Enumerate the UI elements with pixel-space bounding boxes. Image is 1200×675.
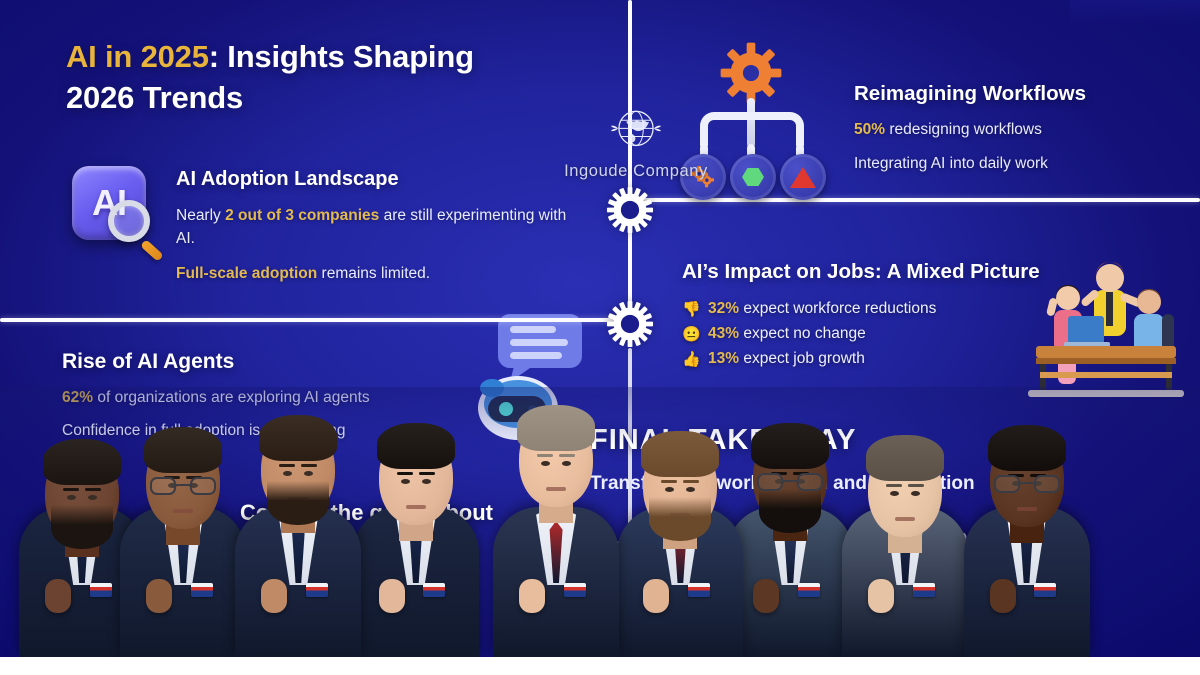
person-beard (51, 505, 113, 549)
person-hair (988, 425, 1066, 471)
person-eyebrow (419, 472, 435, 475)
person-flag-pin (798, 583, 820, 597)
person-eye (88, 495, 97, 500)
jobs-stat-value: 13% (708, 350, 739, 367)
person-portrait (478, 405, 634, 657)
brand-logo: Ingoude Company (548, 104, 724, 181)
person-eyebrow (63, 488, 79, 491)
workflow-node-pyramid (780, 154, 826, 200)
person-hair (43, 439, 121, 485)
person-flag-pin (423, 583, 445, 597)
section-ai-adoption: AI Adoption Landscape Nearly 2 out of 3 … (66, 162, 586, 296)
title-rest: : Insights Shaping (209, 39, 474, 74)
person-eye (67, 495, 76, 500)
adoption-line1-highlight: 2 out of 3 companies (225, 207, 379, 224)
person-hair (144, 427, 222, 473)
adoption-line2-suffix: remains limited. (317, 265, 430, 282)
divider-horizontal-right (632, 198, 1200, 202)
divider-horizontal-left (0, 318, 630, 322)
workflows-stat-value: 50% (854, 121, 885, 138)
person-eyebrow (85, 488, 101, 491)
adoption-line1-prefix: Nearly (176, 207, 225, 224)
person-hand (643, 579, 669, 613)
glasses-icon (994, 475, 1060, 493)
person-hand (868, 579, 894, 613)
person-eye (304, 471, 313, 476)
person-eyebrow (908, 484, 924, 487)
jobs-stat-row: 👍 13% expect job growth (682, 350, 1082, 368)
glasses-icon (757, 473, 823, 491)
person-hair (641, 431, 719, 477)
person-eyebrow (397, 472, 413, 475)
jobs-stat-value: 32% (708, 300, 739, 317)
person-mouth (1017, 507, 1037, 511)
person-eye (422, 479, 431, 484)
jobs-heading: AI’s Impact on Jobs: A Mixed Picture (682, 258, 1082, 286)
person-eye (890, 491, 899, 496)
person-hand (753, 579, 779, 613)
infographic-canvas: AI in 2025: Insights Shaping 2026 Trends… (0, 0, 1200, 675)
person-flag-pin (90, 583, 112, 597)
person-hand (45, 579, 71, 613)
person-eye (401, 479, 410, 484)
person-flag-pin (564, 583, 586, 597)
person-beard (267, 481, 329, 525)
adoption-line2-highlight: Full-scale adoption (176, 265, 317, 282)
jobs-stat-row: 👎 32% expect workforce reductions (682, 300, 1082, 318)
person-eye (541, 461, 550, 466)
person-eyebrow (886, 484, 902, 487)
workflow-node-hexagon (730, 154, 776, 200)
section-reimagining-workflows: Reimagining Workflows 50% redesigning wo… (668, 36, 1188, 187)
top-right-shade (1070, 0, 1200, 26)
person-hand (519, 579, 545, 613)
person-eye (911, 491, 920, 496)
person-hand (379, 579, 405, 613)
person-beard (649, 497, 711, 541)
person-hair (866, 435, 944, 481)
person-portrait (960, 425, 1093, 657)
person-hand (261, 579, 287, 613)
title-accent: AI in 2025 (66, 39, 209, 74)
person-flag-pin (191, 583, 213, 597)
title-line2: 2026 Trends (66, 80, 243, 115)
person-flag-pin (913, 583, 935, 597)
glasses-icon (150, 477, 216, 495)
globe-icon (610, 104, 662, 156)
workflows-line-2: Integrating AI into daily work (854, 152, 1086, 175)
person-hair (259, 415, 337, 461)
person-portrait (228, 415, 369, 657)
agents-heading: Rise of AI Agents (62, 350, 532, 374)
person-mouth (173, 509, 193, 513)
jobs-stat-label: expect workforce reductions (739, 300, 936, 317)
adoption-line-1: Nearly 2 out of 3 companies are still ex… (176, 204, 586, 251)
person-eyebrow (537, 454, 553, 457)
person-eye (686, 487, 695, 492)
person-mouth (895, 517, 915, 521)
person-eyebrow (279, 464, 295, 467)
person-beard (759, 489, 821, 533)
adoption-line-2: Full-scale adoption remains limited. (176, 262, 586, 285)
person-eyebrow (661, 480, 677, 483)
gear-icon (606, 186, 654, 234)
person-eye (665, 487, 674, 492)
section-ai-impact-jobs: AI’s Impact on Jobs: A Mixed Picture 👎 3… (682, 258, 1082, 375)
person-hair (751, 423, 829, 469)
page-title: AI in 2025: Insights Shaping 2026 Trends (66, 36, 586, 118)
person-suit (493, 507, 619, 657)
person-eye (283, 471, 292, 476)
jobs-stat-label: expect no change (739, 325, 866, 342)
person-mouth (546, 487, 566, 491)
gear-icon (606, 300, 654, 348)
person-mouth (406, 505, 426, 509)
thumbs-up-icon: 👍 (682, 350, 700, 368)
person-hair (377, 423, 455, 469)
ai-magnifier-icon (66, 162, 158, 254)
bottom-strip (0, 657, 1200, 675)
people-photo-band (0, 387, 1200, 657)
person-portrait (840, 435, 971, 657)
person-flag-pin (306, 583, 328, 597)
person-eyebrow (683, 480, 699, 483)
person-flag-pin (1034, 583, 1056, 597)
person-eyebrow (559, 454, 575, 457)
person-flag-pin (688, 583, 710, 597)
adoption-heading: AI Adoption Landscape (176, 168, 586, 191)
jobs-stat-label: expect job growth (739, 350, 865, 367)
jobs-stat-row: 😐 43% expect no change (682, 325, 1082, 343)
neutral-face-icon: 😐 (682, 325, 700, 343)
jobs-stat-value: 43% (708, 325, 739, 342)
person-eye (562, 461, 571, 466)
thumbs-down-icon: 👎 (682, 300, 700, 318)
workflows-heading: Reimagining Workflows (854, 82, 1086, 106)
person-hand (990, 579, 1016, 613)
person-hand (146, 579, 172, 613)
workflows-stat: 50% redesigning workflows (854, 118, 1086, 141)
logo-company-name: Ingoude Company (548, 162, 724, 181)
person-hair (517, 405, 595, 451)
person-eyebrow (301, 464, 317, 467)
workflows-stat-label: redesigning workflows (885, 121, 1042, 138)
